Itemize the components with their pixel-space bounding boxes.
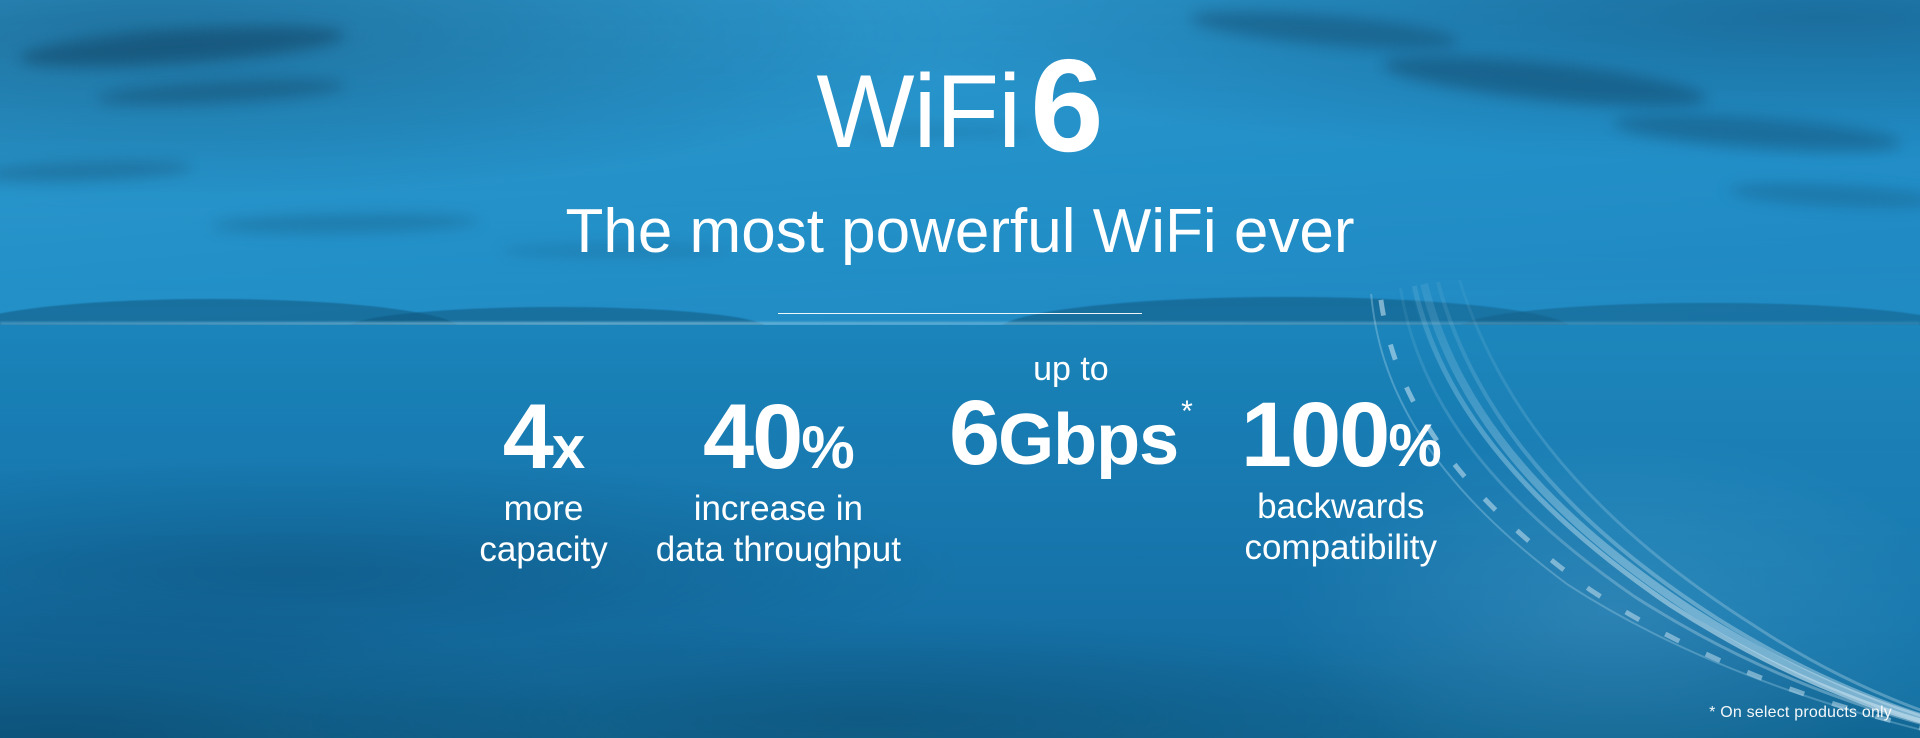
wifi6-promo-banner: WiFi 6 The most powerful WiFi ever 4 x m… xyxy=(0,0,1920,738)
stat-description: increase in data throughput xyxy=(656,489,901,570)
divider-rule xyxy=(778,313,1142,314)
stat-unit: % xyxy=(801,419,853,476)
stat-value: 6 Gbps * xyxy=(949,390,1193,477)
stat-item: up to 6 Gbps * xyxy=(925,352,1217,485)
stat-number: 4 xyxy=(503,394,552,481)
stat-number: 100 xyxy=(1241,392,1389,479)
stat-unit: % xyxy=(1388,417,1440,474)
stat-prefix: up to xyxy=(1033,352,1109,388)
stat-footnote-marker: * xyxy=(1181,398,1193,427)
tagline: The most powerful WiFi ever xyxy=(0,196,1920,267)
wifi6-logo: WiFi 6 xyxy=(0,48,1920,172)
stat-number: 6 xyxy=(949,390,998,477)
stat-item: 4 x more capacity xyxy=(455,392,631,571)
logo-generation-number: 6 xyxy=(1030,40,1103,172)
banner-content: WiFi 6 The most powerful WiFi ever 4 x m… xyxy=(0,0,1920,738)
footnote-text: * On select products only xyxy=(1709,704,1892,722)
stat-item: 40 % increase in data throughput xyxy=(632,392,925,571)
stat-number: 40 xyxy=(703,394,801,481)
stat-item: 100 % backwards compatibility xyxy=(1217,390,1465,569)
stat-value: 4 x xyxy=(503,394,585,481)
stat-description: backwards compatibility xyxy=(1244,487,1437,568)
stats-row: 4 x more capacity 40 % increase in data … xyxy=(0,352,1920,571)
logo-wifi-word: WiFi xyxy=(816,60,1020,164)
stat-value: 100 % xyxy=(1241,392,1441,479)
stat-unit: Gbps xyxy=(998,406,1178,474)
stat-unit: x xyxy=(552,419,584,476)
stat-value: 40 % xyxy=(703,394,854,481)
stat-description: more capacity xyxy=(479,489,607,570)
